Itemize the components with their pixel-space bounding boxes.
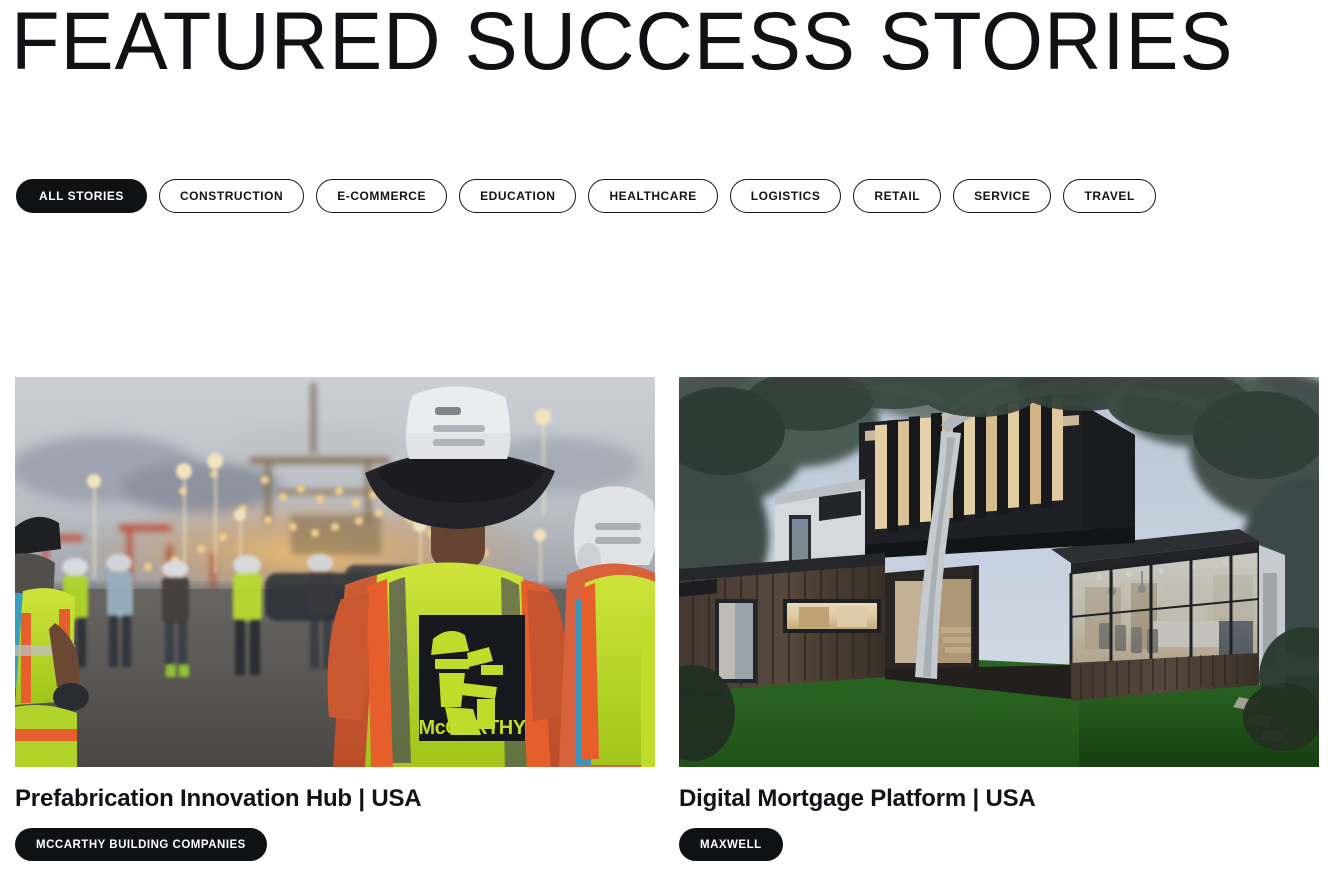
success-stories-page: FEATURED SUCCESS STORIES ALL STORIES CON… (0, 0, 1330, 876)
story-tag[interactable]: MAXWELL (679, 828, 783, 861)
filter-pill-travel[interactable]: TRAVEL (1063, 179, 1155, 213)
filter-pill-e-commerce[interactable]: E-COMMERCE (316, 179, 447, 213)
story-image-art: McCARTHY (15, 377, 655, 767)
story-image-construction-port[interactable]: McCARTHY (15, 377, 655, 767)
category-filter-bar: ALL STORIES CONSTRUCTION E-COMMERCE EDUC… (16, 179, 1156, 213)
filter-pill-all-stories[interactable]: ALL STORIES (16, 179, 147, 213)
story-title: Prefabrication Innovation Hub | USA (15, 784, 655, 814)
story-image-modern-house[interactable] (679, 377, 1319, 767)
story-title: Digital Mortgage Platform | USA (679, 784, 1319, 814)
story-card-grid: McCARTHY (15, 377, 1319, 861)
filter-pill-education[interactable]: EDUCATION (459, 179, 576, 213)
filter-pill-service[interactable]: SERVICE (953, 179, 1051, 213)
filter-pill-retail[interactable]: RETAIL (853, 179, 941, 213)
story-card[interactable]: Digital Mortgage Platform | USA MAXWELL (679, 377, 1319, 861)
page-title: FEATURED SUCCESS STORIES (11, 0, 1233, 88)
story-card[interactable]: McCARTHY (15, 377, 655, 861)
filter-pill-logistics[interactable]: LOGISTICS (730, 179, 842, 213)
story-image-art (679, 377, 1319, 767)
filter-pill-healthcare[interactable]: HEALTHCARE (588, 179, 717, 213)
story-tag[interactable]: MCCARTHY BUILDING COMPANIES (15, 828, 267, 861)
filter-pill-construction[interactable]: CONSTRUCTION (159, 179, 304, 213)
